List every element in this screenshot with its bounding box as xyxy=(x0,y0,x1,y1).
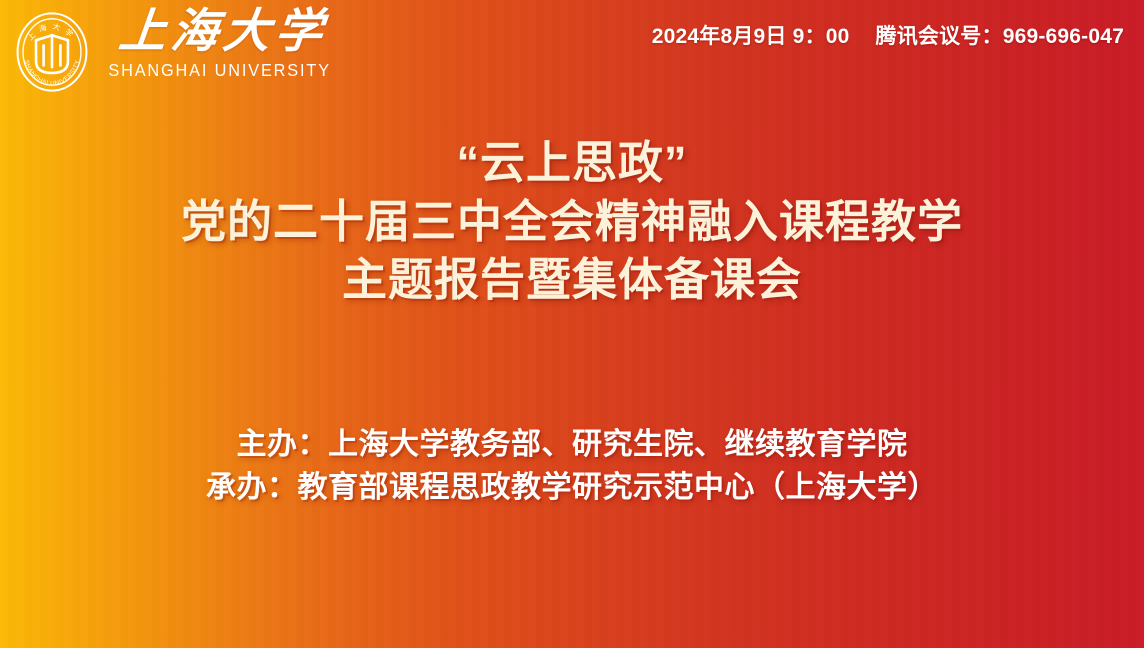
event-poster: 上海大学 SHANGHAI UNIVERSITY 上海大学 SHANGHAI U… xyxy=(0,0,1144,648)
event-datetime: 2024年8月9日 9：00 xyxy=(652,20,850,50)
logo-name-en: SHANGHAI UNIVERSITY xyxy=(108,60,331,81)
header-meta: 2024年8月9日 9：00 腾讯会议号：969-696-047 xyxy=(652,20,1124,50)
meeting-number: 腾讯会议号：969-696-047 xyxy=(876,20,1125,50)
title-line-1: “云上思政” xyxy=(0,134,1144,193)
page-title: “云上思政” 党的二十届三中全会精神融入课程教学 主题报告暨集体备课会 xyxy=(0,134,1144,310)
organizer-host: 主办：上海大学教务部、研究生院、继续教育学院 xyxy=(0,424,1144,467)
shanghai-university-logo: 上海大学 SHANGHAI UNIVERSITY 上海大学 SHANGHAI U… xyxy=(10,8,339,94)
logo-wordmark: 上海大学 SHANGHAI UNIVERSITY xyxy=(100,8,339,81)
title-line-2: 党的二十届三中全会精神融入课程教学 xyxy=(0,193,1144,252)
organizer-block: 主办：上海大学教务部、研究生院、继续教育学院 承办：教育部课程思政教学研究示范中… xyxy=(0,424,1144,509)
organizer-cohost: 承办：教育部课程思政教学研究示范中心（上海大学） xyxy=(0,467,1144,510)
title-line-3: 主题报告暨集体备课会 xyxy=(0,251,1144,310)
logo-name-cn: 上海大学 xyxy=(110,8,329,57)
shanghai-university-emblem-icon: 上海大学 SHANGHAI UNIVERSITY xyxy=(10,10,94,94)
